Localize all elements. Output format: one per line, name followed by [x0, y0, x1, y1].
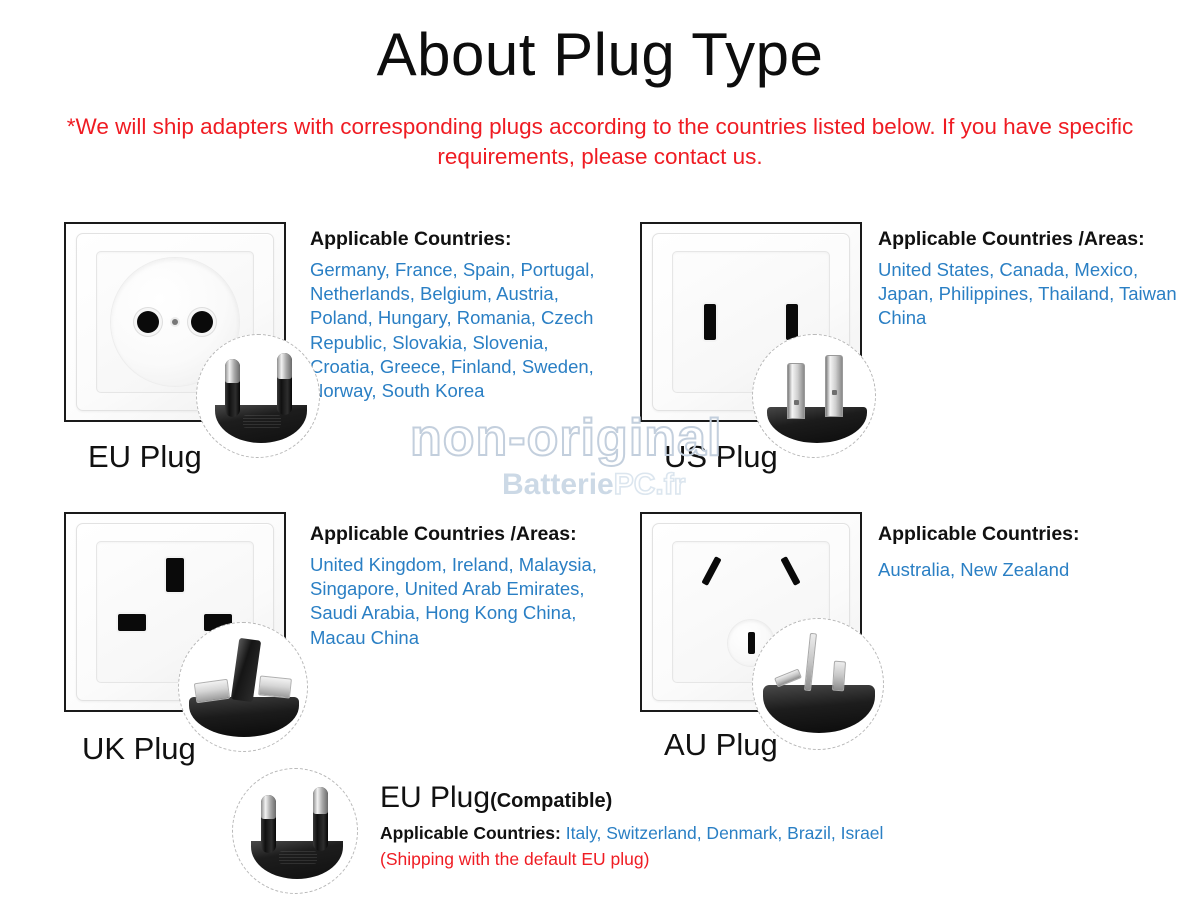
uk-pin-earth: [231, 638, 261, 702]
eu-hole-right: [191, 311, 213, 333]
heading-au: Applicable Countries:: [878, 522, 1080, 546]
prong-left: [261, 795, 276, 853]
prong-right: [313, 787, 328, 851]
countries-au: Australia, New Zealand: [878, 558, 1178, 582]
compatible-title: EU Plug(Compatible): [380, 782, 612, 817]
plug-type-infographic: About Plug Type *We will ship adapters w…: [0, 0, 1200, 900]
au-slot-right: [780, 556, 800, 586]
shipping-note: *We will ship adapters with correspondin…: [60, 112, 1140, 172]
watermark-brand: BatteriePC.fr: [502, 470, 685, 500]
compatible-note: (Shipping with the default EU plug): [380, 848, 649, 870]
plug-label-eu: EU Plug: [88, 440, 202, 474]
countries-us: United States, Canada, Mexico, Japan, Ph…: [878, 258, 1178, 331]
uk-live-slot: [118, 614, 146, 631]
compatible-countries: Italy, Switzerland, Denmark, Brazil, Isr…: [566, 823, 884, 843]
prong-left: [225, 359, 240, 417]
compatible-title-main: EU Plug: [380, 781, 490, 814]
blade-right: [825, 355, 843, 417]
plug-body: [189, 697, 299, 737]
eu-center-pin: [172, 319, 178, 325]
plug-label-uk: UK Plug: [82, 732, 196, 766]
au-slot-left: [701, 556, 721, 586]
eu-hole-left: [137, 311, 159, 333]
uk-earth-slot: [166, 558, 184, 592]
plug-body: [763, 685, 875, 733]
countries-eu: Germany, France, Spain, Portugal, Nether…: [310, 258, 610, 403]
page-title: About Plug Type: [0, 24, 1200, 86]
heading-eu: Applicable Countries:: [310, 227, 512, 251]
au-pin-earth: [804, 633, 817, 691]
plug-label-au: AU Plug: [664, 728, 778, 762]
au-plug-icon: [752, 618, 884, 750]
us-slot-right: [786, 304, 798, 340]
countries-uk: United Kingdom, Ireland, Malaysia, Singa…: [310, 553, 610, 650]
prong-right: [277, 353, 292, 415]
blade-left: [787, 363, 805, 419]
plug-body: [767, 407, 867, 443]
heading-uk: Applicable Countries /Areas:: [310, 522, 577, 546]
plug-label-us: US Plug: [664, 440, 778, 474]
watermark-brand-a: Batterie: [502, 468, 614, 501]
au-pin-right: [832, 661, 846, 692]
us-slot-left: [704, 304, 716, 340]
compatible-countries-line: Applicable Countries: Italy, Switzerland…: [380, 822, 883, 844]
uk-pin-neutral: [258, 675, 292, 698]
eu-plug-icon: [196, 334, 320, 458]
au-earth-slot: [748, 632, 755, 654]
compatible-title-suffix: (Compatible): [490, 790, 612, 812]
uk-plug-icon: [178, 622, 308, 752]
eu-plug-icon-compatible: [232, 768, 358, 894]
heading-us: Applicable Countries /Areas:: [878, 227, 1145, 251]
compatible-heading: Applicable Countries:: [380, 823, 561, 843]
us-plug-icon: [752, 334, 876, 458]
